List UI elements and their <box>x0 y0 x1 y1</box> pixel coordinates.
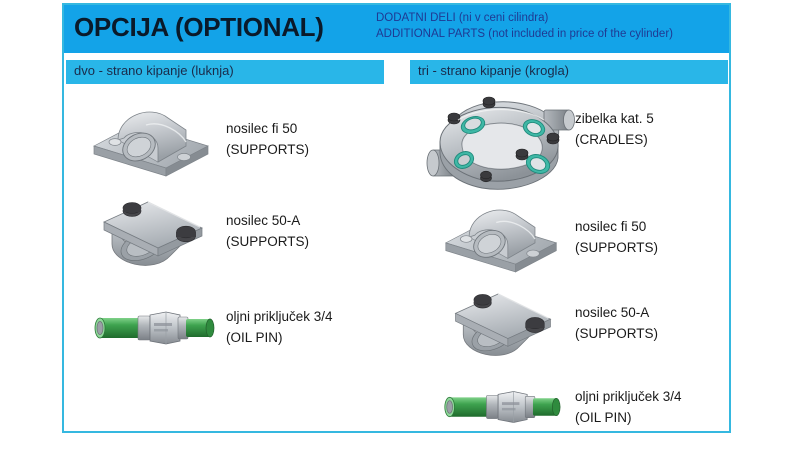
list-item: nosilec 50-A (SUPPORTS) <box>410 286 737 370</box>
list-item-caption: zibelka kat. 5 (CRADLES) <box>575 108 654 150</box>
list-item-name-en: (OIL PIN) <box>226 327 333 348</box>
list-item: oljni priključek 3/4 (OIL PIN) <box>410 372 737 446</box>
list-item-name-en: (SUPPORTS) <box>226 139 309 160</box>
oil-pin-fitting-icon <box>88 296 218 360</box>
header-band: OPCIJA (OPTIONAL) DODATNI DELI (ni v cen… <box>64 5 729 53</box>
list-item-name-en: (SUPPORTS) <box>226 231 309 252</box>
list-item-name-sl: nosilec 50-A <box>575 305 649 320</box>
list-item-name-en: (CRADLES) <box>575 129 654 150</box>
slide-canvas: OPCIJA (OPTIONAL) DODATNI DELI (ni v cen… <box>0 0 800 450</box>
list-item-name-en: (OIL PIN) <box>575 407 682 428</box>
list-item-name-sl: zibelka kat. 5 <box>575 111 654 126</box>
list-item-name-sl: nosilec fi 50 <box>575 219 646 234</box>
list-item-name-sl: nosilec 50-A <box>226 213 300 228</box>
list-item-name-en: (SUPPORTS) <box>575 237 658 258</box>
list-item-caption: oljni priključek 3/4 (OIL PIN) <box>226 306 333 348</box>
column-heading-right-label: tri - strano kipanje (krogla) <box>418 63 569 78</box>
column-heading-left-label: dvo - strano kipanje (luknja) <box>74 63 234 78</box>
header-note: DODATNI DELI (ni v ceni cilindra) ADDITI… <box>376 10 728 42</box>
list-item-caption: nosilec fi 50 (SUPPORTS) <box>226 118 309 160</box>
oil-pin-fitting-icon <box>438 376 564 438</box>
list-item-caption: nosilec 50-A (SUPPORTS) <box>575 302 658 344</box>
list-item: zibelka kat. 5 (CRADLES) <box>410 86 737 202</box>
list-item-name-en: (SUPPORTS) <box>575 323 658 344</box>
column-heading-right: tri - strano kipanje (krogla) <box>410 60 728 84</box>
list-item-name-sl: nosilec fi 50 <box>226 121 297 136</box>
pillow-block-support-icon <box>88 102 218 182</box>
list-item-caption: oljni priključek 3/4 (OIL PIN) <box>575 386 682 428</box>
list-item: nosilec fi 50 (SUPPORTS) <box>410 200 737 284</box>
header-note-line-en: ADDITIONAL PARTS (not included in price … <box>376 26 728 42</box>
list-item: oljni priključek 3/4 (OIL PIN) <box>66 292 393 372</box>
split-clamp-support-icon <box>440 286 566 364</box>
column-heading-left: dvo - strano kipanje (luknja) <box>66 60 384 84</box>
list-item: nosilec 50-A (SUPPORTS) <box>66 194 393 282</box>
cradle-ring-icon <box>418 86 578 201</box>
column-two-side-tipping: dvo - strano kipanje (luknja) <box>66 60 393 428</box>
list-item: nosilec fi 50 (SUPPORTS) <box>66 102 393 190</box>
split-clamp-support-icon <box>88 194 218 274</box>
column-divider <box>404 58 405 430</box>
page-title: OPCIJA (OPTIONAL) <box>74 12 324 43</box>
list-item-caption: nosilec 50-A (SUPPORTS) <box>226 210 309 252</box>
list-item-name-sl: oljni priključek 3/4 <box>226 309 333 324</box>
list-item-caption: nosilec fi 50 (SUPPORTS) <box>575 216 658 258</box>
pillow-block-support-icon <box>440 200 566 278</box>
column-three-side-tipping: tri - strano kipanje (krogla) <box>410 60 737 428</box>
list-item-name-sl: oljni priključek 3/4 <box>575 389 682 404</box>
header-note-line-sl: DODATNI DELI (ni v ceni cilindra) <box>376 10 728 26</box>
